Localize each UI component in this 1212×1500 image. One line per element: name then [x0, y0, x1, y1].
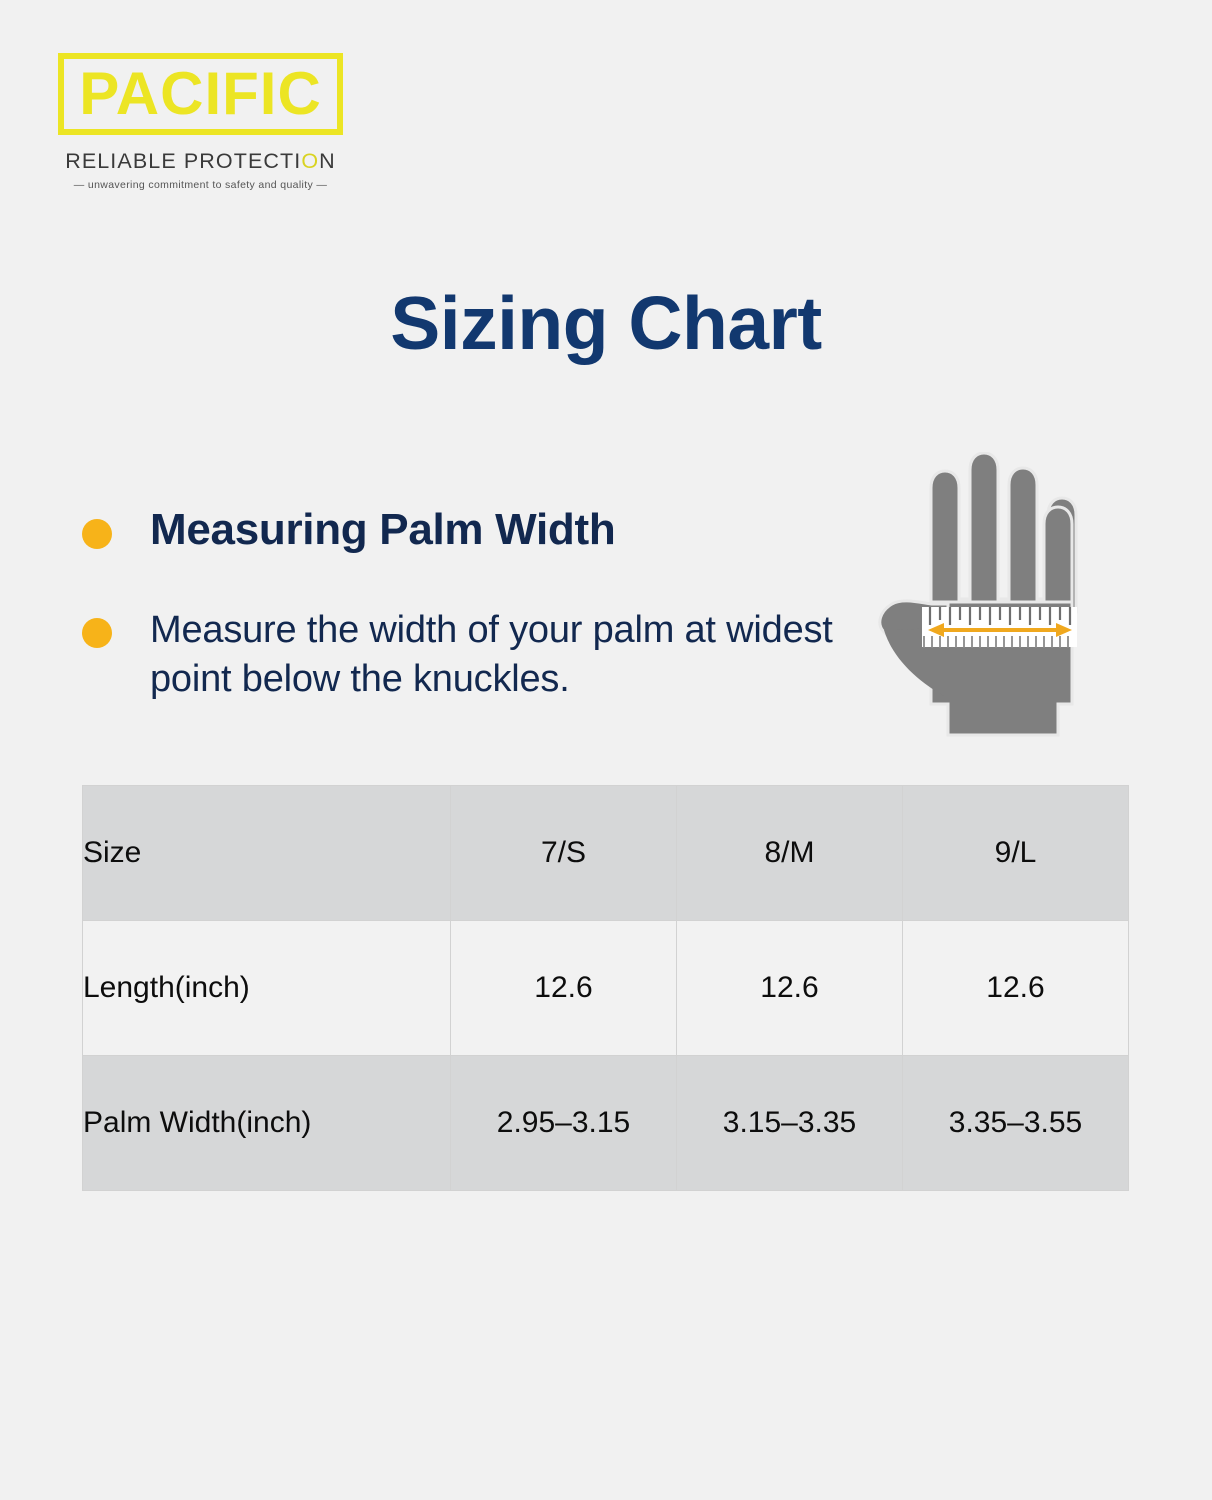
logo-tagline-highlight: O	[301, 149, 319, 173]
bullet-description-text: Measure the width of your palm at widest…	[150, 606, 850, 703]
glove-silhouette	[880, 453, 1076, 735]
logo-tagline-pre: RELIABLE PROTECTI	[65, 149, 301, 173]
table-row: Length(inch) 12.6 12.6 12.6	[83, 921, 1129, 1056]
size-chart-table: Size 7/S 8/M 9/L Length(inch) 12.6 12.6 …	[82, 785, 1129, 1191]
table-header-size: Size	[83, 786, 451, 921]
bullet-list: Measuring Palm Width Measure the width o…	[82, 505, 852, 704]
bullet-item-description: Measure the width of your palm at widest…	[82, 606, 852, 703]
bullet-dot-icon	[82, 618, 112, 648]
bullet-item-heading: Measuring Palm Width	[82, 505, 852, 554]
cell-length-7s: 12.6	[451, 921, 677, 1056]
logo-wordmark: PACIFIC	[72, 64, 329, 124]
logo-tagline-post: N	[319, 149, 336, 173]
cell-palm-width-8m: 3.15–3.35	[677, 1056, 903, 1191]
cell-length-9l: 12.6	[903, 921, 1129, 1056]
logo-frame: PACIFIC	[58, 53, 343, 135]
table-header-9l: 9/L	[903, 786, 1129, 921]
row-label-length: Length(inch)	[83, 921, 451, 1056]
logo-tagline-row: RELIABLE PROTECTION — unwavering commitm…	[58, 149, 343, 191]
bullet-heading-text: Measuring Palm Width	[150, 505, 615, 554]
table-header-8m: 8/M	[677, 786, 903, 921]
row-label-palm-width: Palm Width(inch)	[83, 1056, 451, 1191]
table-row: Palm Width(inch) 2.95–3.15 3.15–3.35 3.3…	[83, 1056, 1129, 1191]
cell-length-8m: 12.6	[677, 921, 903, 1056]
table-header-row: Size 7/S 8/M 9/L	[83, 786, 1129, 921]
cell-palm-width-7s: 2.95–3.15	[451, 1056, 677, 1191]
table-header-7s: 7/S	[451, 786, 677, 921]
page-title: Sizing Chart	[0, 286, 1212, 361]
measuring-tape	[922, 607, 1077, 648]
bullet-dot-icon	[82, 519, 112, 549]
brand-logo: PACIFIC RELIABLE PROTECTION — unwavering…	[58, 53, 348, 191]
logo-tagline: RELIABLE PROTECTION	[58, 149, 343, 174]
cell-palm-width-9l: 3.35–3.55	[903, 1056, 1129, 1191]
hand-glove-icon	[862, 452, 1094, 752]
logo-subtagline: — unwavering commitment to safety and qu…	[58, 179, 343, 191]
